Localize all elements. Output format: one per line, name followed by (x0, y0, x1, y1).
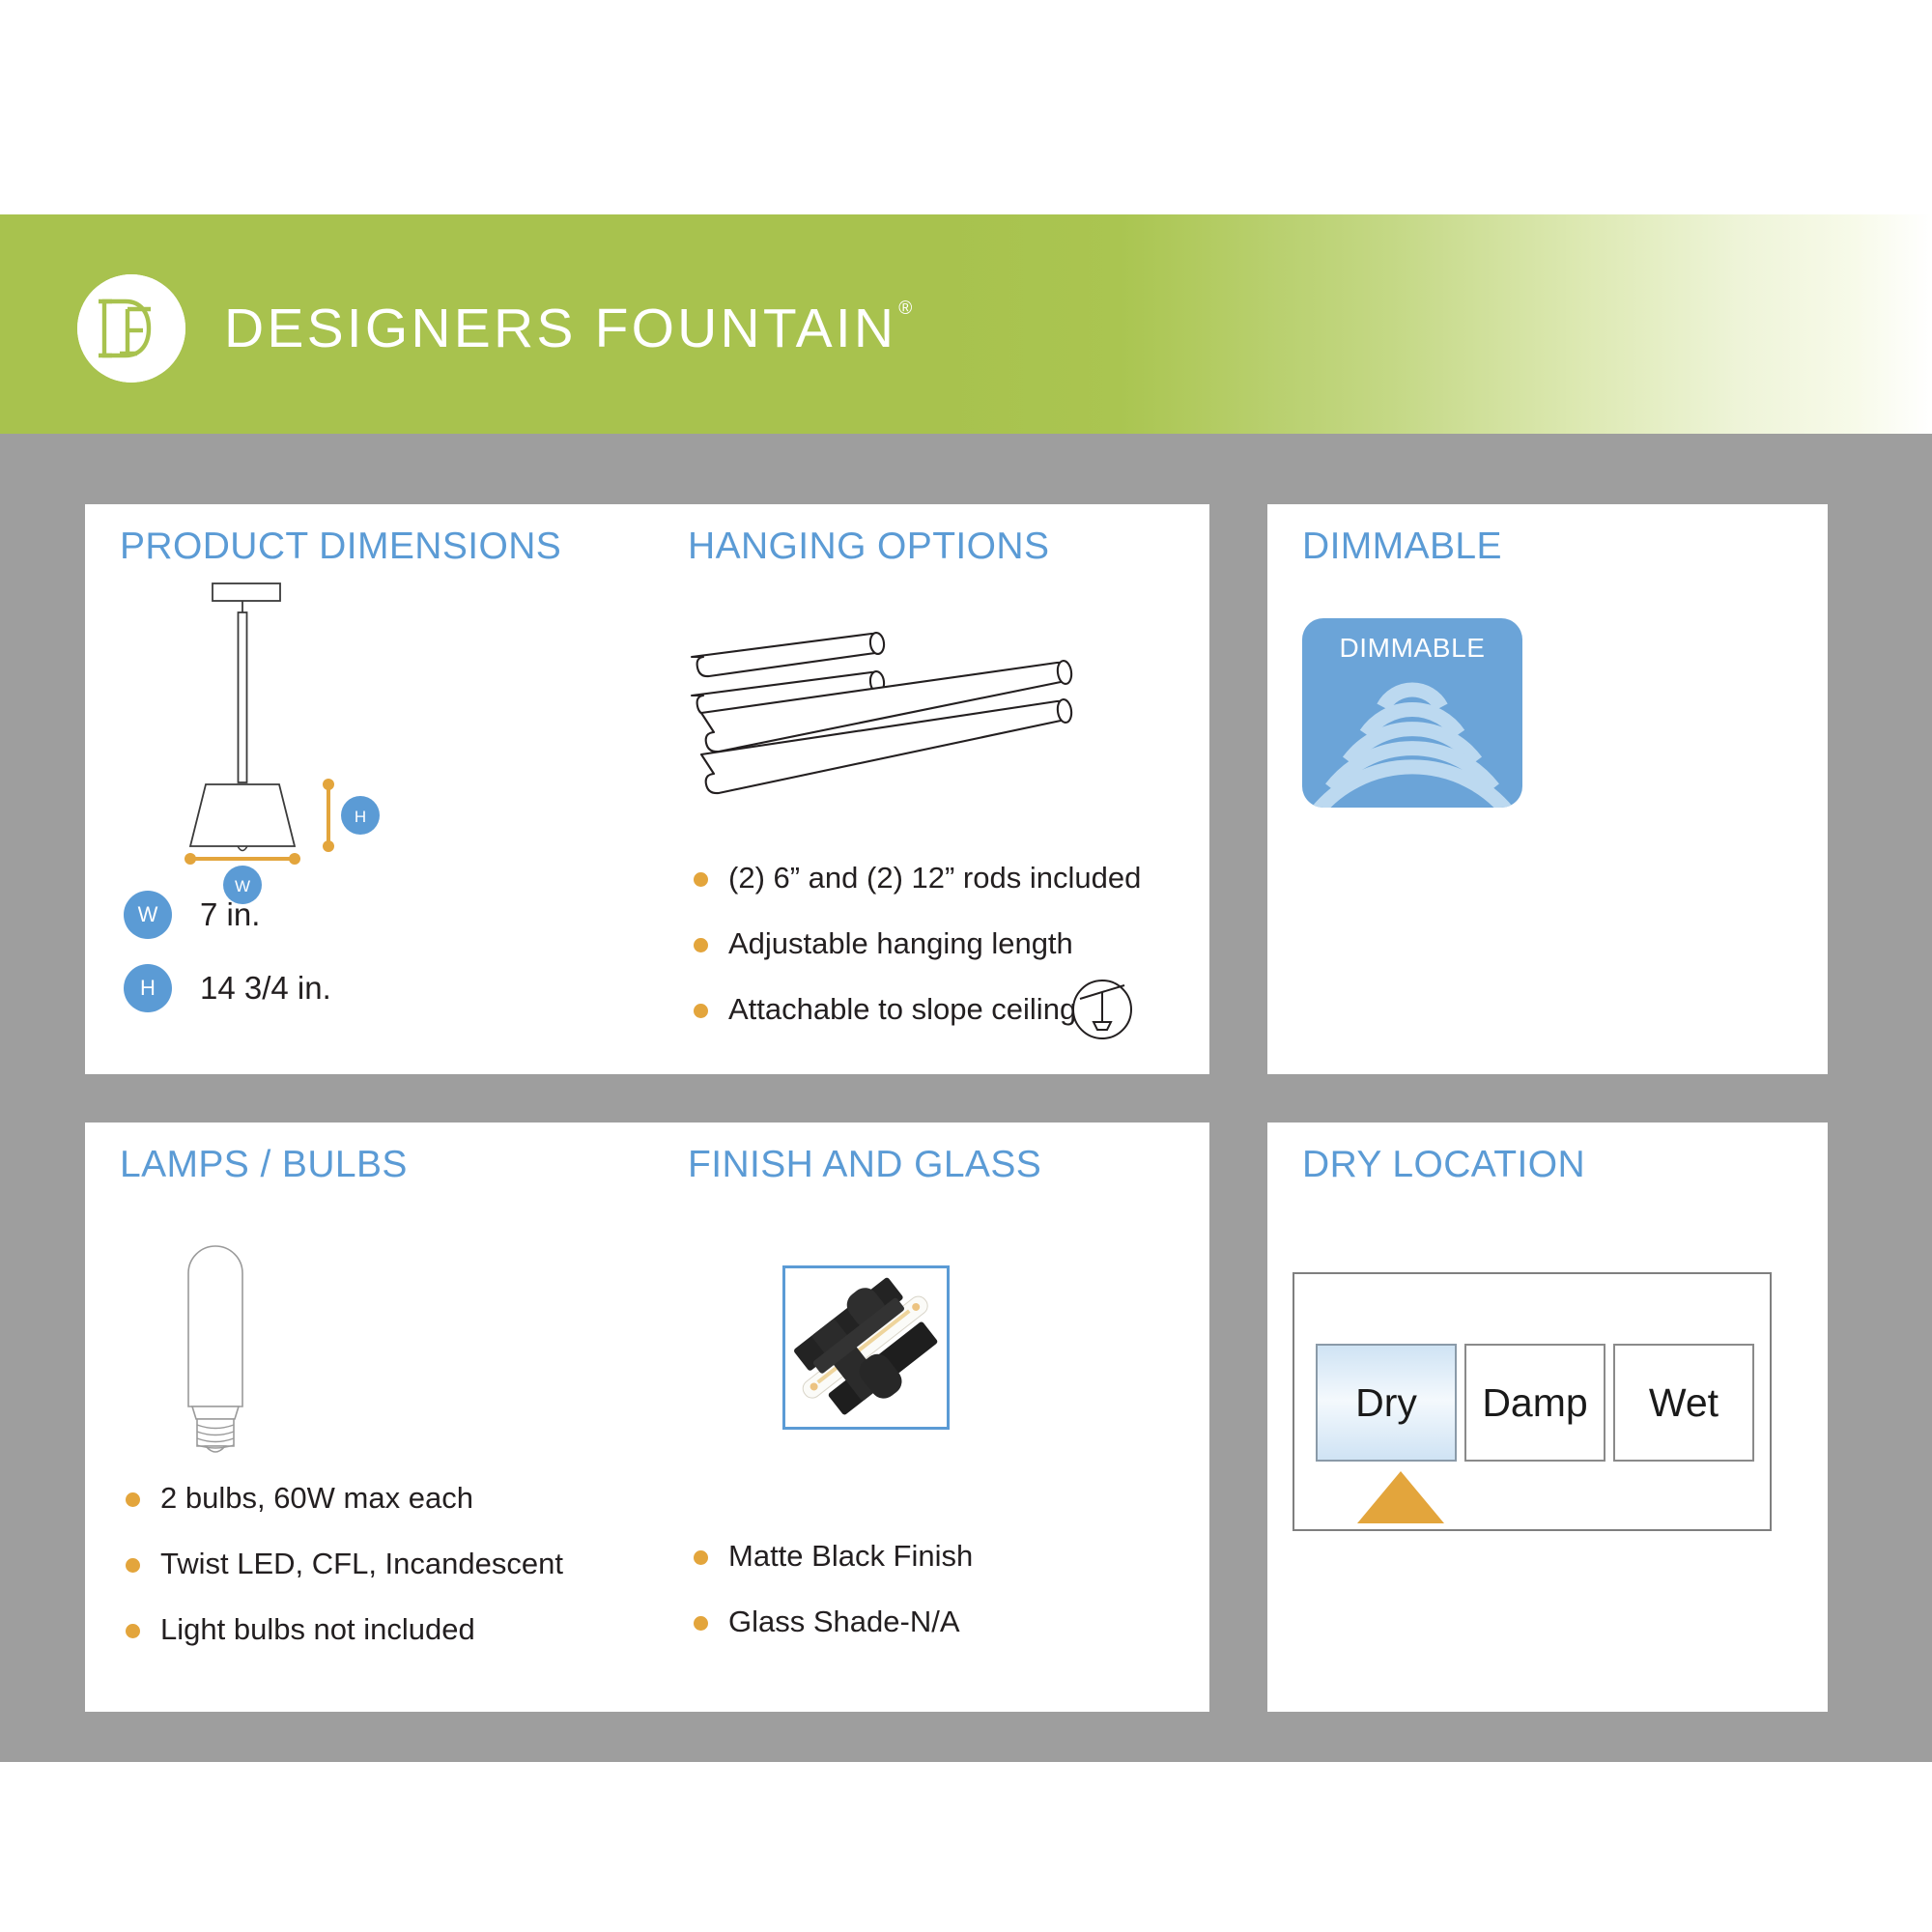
matte-black-fixture-photo (782, 1265, 950, 1430)
list-item: Light bulbs not included (120, 1611, 636, 1648)
brand-name: DESIGNERS FOUNTAIN® (224, 297, 910, 360)
location-option-dry[interactable]: Dry (1316, 1344, 1457, 1462)
slope-ceiling-icon (1070, 978, 1134, 1046)
brand-name-text: DESIGNERS FOUNTAIN (224, 298, 896, 359)
finish-and-glass-bullet-list: Matte Black Finish Glass Shade-N/A (688, 1538, 1192, 1669)
list-item: Adjustable hanging length (688, 925, 1192, 962)
tubular-bulb-diagram (157, 1223, 273, 1460)
dimmable-waves-icon: DIMMABLE (1302, 618, 1522, 808)
card-title-finish-and-glass: FINISH AND GLASS (688, 1144, 1041, 1186)
dimension-row-height: H 14 3/4 in. (124, 964, 331, 1012)
df-monogram-oval-icon (77, 274, 185, 383)
dimension-list: W 7 in. H 14 3/4 in. (124, 891, 331, 1037)
list-item: Matte Black Finish (688, 1538, 1192, 1575)
location-option-wet[interactable]: Wet (1613, 1344, 1754, 1462)
width-value: 7 in. (200, 896, 260, 933)
hanging-rods-diagram (674, 597, 1177, 805)
dimension-marker-h: H (323, 779, 380, 852)
lamps-bulbs-bullet-list: 2 bulbs, 60W max each Twist LED, CFL, In… (120, 1480, 636, 1676)
card-hanging-options: HANGING OPTIONS (653, 504, 1209, 1074)
card-product-dimensions: PRODUCT DIMENSIONS (85, 504, 653, 1074)
pendant-light-dimension-diagram: H W (153, 574, 471, 868)
width-badge: W (124, 891, 172, 939)
height-value: 14 3/4 in. (200, 970, 331, 1007)
list-item: 2 bulbs, 60W max each (120, 1480, 636, 1517)
height-badge: H (124, 964, 172, 1012)
dimmable-icon-label: DIMMABLE (1302, 633, 1522, 664)
card-title-dry-location: DRY LOCATION (1302, 1144, 1585, 1186)
location-option-damp[interactable]: Damp (1464, 1344, 1605, 1462)
list-item: Twist LED, CFL, Incandescent (120, 1546, 636, 1582)
svg-text:H: H (355, 808, 366, 826)
card-lamps-bulbs: LAMPS / BULBS (85, 1122, 653, 1712)
location-rating-options: Dry Damp Wet (1316, 1344, 1754, 1462)
dimension-row-width: W 7 in. (124, 891, 331, 939)
orange-triangle-pointer (1357, 1471, 1444, 1523)
card-title-product-dimensions: PRODUCT DIMENSIONS (120, 526, 561, 568)
location-rating-panel: Dry Damp Wet (1293, 1272, 1772, 1531)
card-title-hanging-options: HANGING OPTIONS (688, 526, 1049, 568)
list-item: (2) 6” and (2) 12” rods included (688, 860, 1192, 896)
card-dimmable: DIMMABLE DIMMABLE (1267, 504, 1828, 1074)
list-item: Glass Shade-N/A (688, 1604, 1192, 1640)
card-dry-location: DRY LOCATION Dry Damp Wet (1267, 1122, 1828, 1712)
spec-card-grid: PRODUCT DIMENSIONS (85, 504, 1847, 1712)
brand-logo: DESIGNERS FOUNTAIN® (77, 280, 910, 377)
card-finish-and-glass: FINISH AND GLASS (653, 1122, 1209, 1712)
card-title-dimmable: DIMMABLE (1302, 526, 1502, 568)
registered-trademark-icon: ® (898, 298, 912, 319)
card-title-lamps-bulbs: LAMPS / BULBS (120, 1144, 408, 1186)
